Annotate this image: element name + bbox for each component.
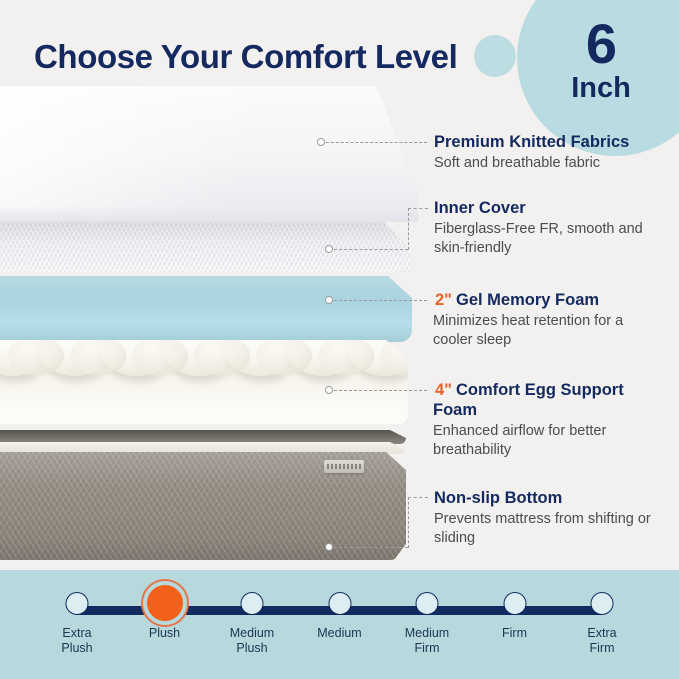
layer-non-slip-bottom (0, 452, 406, 560)
layer-premium-knitted-fabrics (0, 86, 418, 222)
slider-stop-medium[interactable]: Medium (302, 570, 378, 679)
comfort-level-slider[interactable]: Extra PlushPlushMedium PlushMediumMedium… (0, 570, 679, 679)
callout-dot-inner-cover (325, 245, 333, 253)
slider-stop-label: Medium Firm (389, 626, 465, 656)
callout-dot-comfort-egg-support-foam (325, 386, 333, 394)
slider-stop-marker[interactable] (591, 592, 614, 615)
brand-label-tag (324, 460, 364, 473)
slider-stop-firm[interactable]: Firm (477, 570, 553, 679)
annotation-description: Enhanced airflow for better breathabilit… (433, 422, 649, 460)
slider-stop-medium-firm[interactable]: Medium Firm (389, 570, 465, 679)
slider-stop-marker[interactable] (241, 592, 264, 615)
annotation-title: 2"Gel Memory Foam (433, 290, 661, 310)
slider-stop-label: Plush (127, 626, 203, 641)
annotation-inner-cover: Inner Cover Fiberglass-Free FR, smooth a… (434, 198, 656, 258)
egg-crate-texture (0, 340, 408, 382)
callout-line-comfort-egg-support-foam (334, 390, 427, 392)
slider-stop-marker[interactable] (66, 592, 89, 615)
annotation-gel-memory-foam: 2"Gel Memory Foam Minimizes heat retenti… (433, 290, 661, 350)
size-badge-unit: Inch (541, 74, 661, 103)
slider-stop-label: Extra Firm (564, 626, 640, 656)
annotation-description: Minimizes heat retention for a cooler sl… (433, 312, 661, 350)
callout-line-non-slip-bottom-v (408, 497, 410, 548)
slider-stop-marker[interactable] (503, 592, 526, 615)
annotation-description: Soft and breathable fabric (434, 154, 674, 173)
annotation-description: Prevents mattress from shifting or slidi… (434, 510, 666, 548)
layer-sheen (0, 86, 418, 222)
callout-line-gel-memory-foam (334, 300, 427, 302)
slider-stop-label: Medium (302, 626, 378, 641)
slider-stop-extra-firm[interactable]: Extra Firm (564, 570, 640, 679)
annotation-description: Fiberglass-Free FR, smooth and skin-frie… (434, 220, 656, 258)
annotation-title: Non-slip Bottom (434, 488, 666, 508)
annotation-title: 4"Comfort Egg Support Foam (433, 380, 649, 420)
annotation-title: Inner Cover (434, 198, 656, 218)
callout-line-inner-cover-top (408, 208, 428, 210)
slider-stop-marker[interactable] (328, 592, 351, 615)
layer-comfort-egg-support-foam (0, 340, 408, 424)
page-title: Choose Your Comfort Level (34, 38, 457, 76)
annotation-title-text: Gel Memory Foam (456, 291, 599, 309)
callout-dot-non-slip-bottom (325, 543, 333, 551)
annotation-non-slip-bottom: Non-slip Bottom Prevents mattress from s… (434, 488, 666, 548)
annotation-measurement: 4" (433, 380, 454, 400)
layer-inner-cover (0, 222, 410, 272)
layer-highlight (0, 276, 412, 300)
annotation-title-text: Comfort Egg Support Foam (433, 381, 624, 419)
layer-gel-memory-foam (0, 276, 412, 342)
layer-texture (0, 222, 410, 272)
mattress-stack-illustration (0, 86, 420, 564)
infographic-canvas: 6 Inch Choose Your Comfort Level (0, 0, 679, 679)
annotation-title: Premium Knitted Fabrics (434, 132, 674, 152)
slider-stop-label: Extra Plush (39, 626, 115, 656)
size-badge-number: 6 (541, 16, 661, 72)
layer-base-fade (0, 390, 408, 424)
layer-base-shadow (0, 430, 406, 444)
slider-stop-marker[interactable] (147, 585, 183, 621)
slider-stop-medium-plush[interactable]: Medium Plush (214, 570, 290, 679)
annotation-measurement: 2" (433, 290, 454, 310)
callout-line-non-slip-bottom-top (408, 497, 428, 499)
size-badge: 6 Inch (541, 16, 661, 103)
callout-line-non-slip-bottom-h (334, 547, 408, 549)
callout-line-inner-cover-v (408, 208, 410, 250)
callout-line-premium-knitted-fabrics (326, 142, 427, 144)
slider-stop-marker[interactable] (416, 592, 439, 615)
slider-stop-extra-plush[interactable]: Extra Plush (39, 570, 115, 679)
title-accent-dot (474, 35, 516, 77)
slider-stop-plush[interactable]: Plush (127, 570, 203, 679)
slider-stop-label: Medium Plush (214, 626, 290, 656)
slider-stop-label: Firm (477, 626, 553, 641)
callout-line-inner-cover-h (334, 249, 408, 251)
layer-edge (0, 206, 418, 222)
callout-dot-gel-memory-foam (325, 296, 333, 304)
annotation-comfort-egg-support-foam: 4"Comfort Egg Support Foam Enhanced airf… (433, 380, 649, 460)
annotation-premium-knitted-fabrics: Premium Knitted Fabrics Soft and breatha… (434, 132, 674, 173)
callout-dot-premium-knitted-fabrics (317, 138, 325, 146)
